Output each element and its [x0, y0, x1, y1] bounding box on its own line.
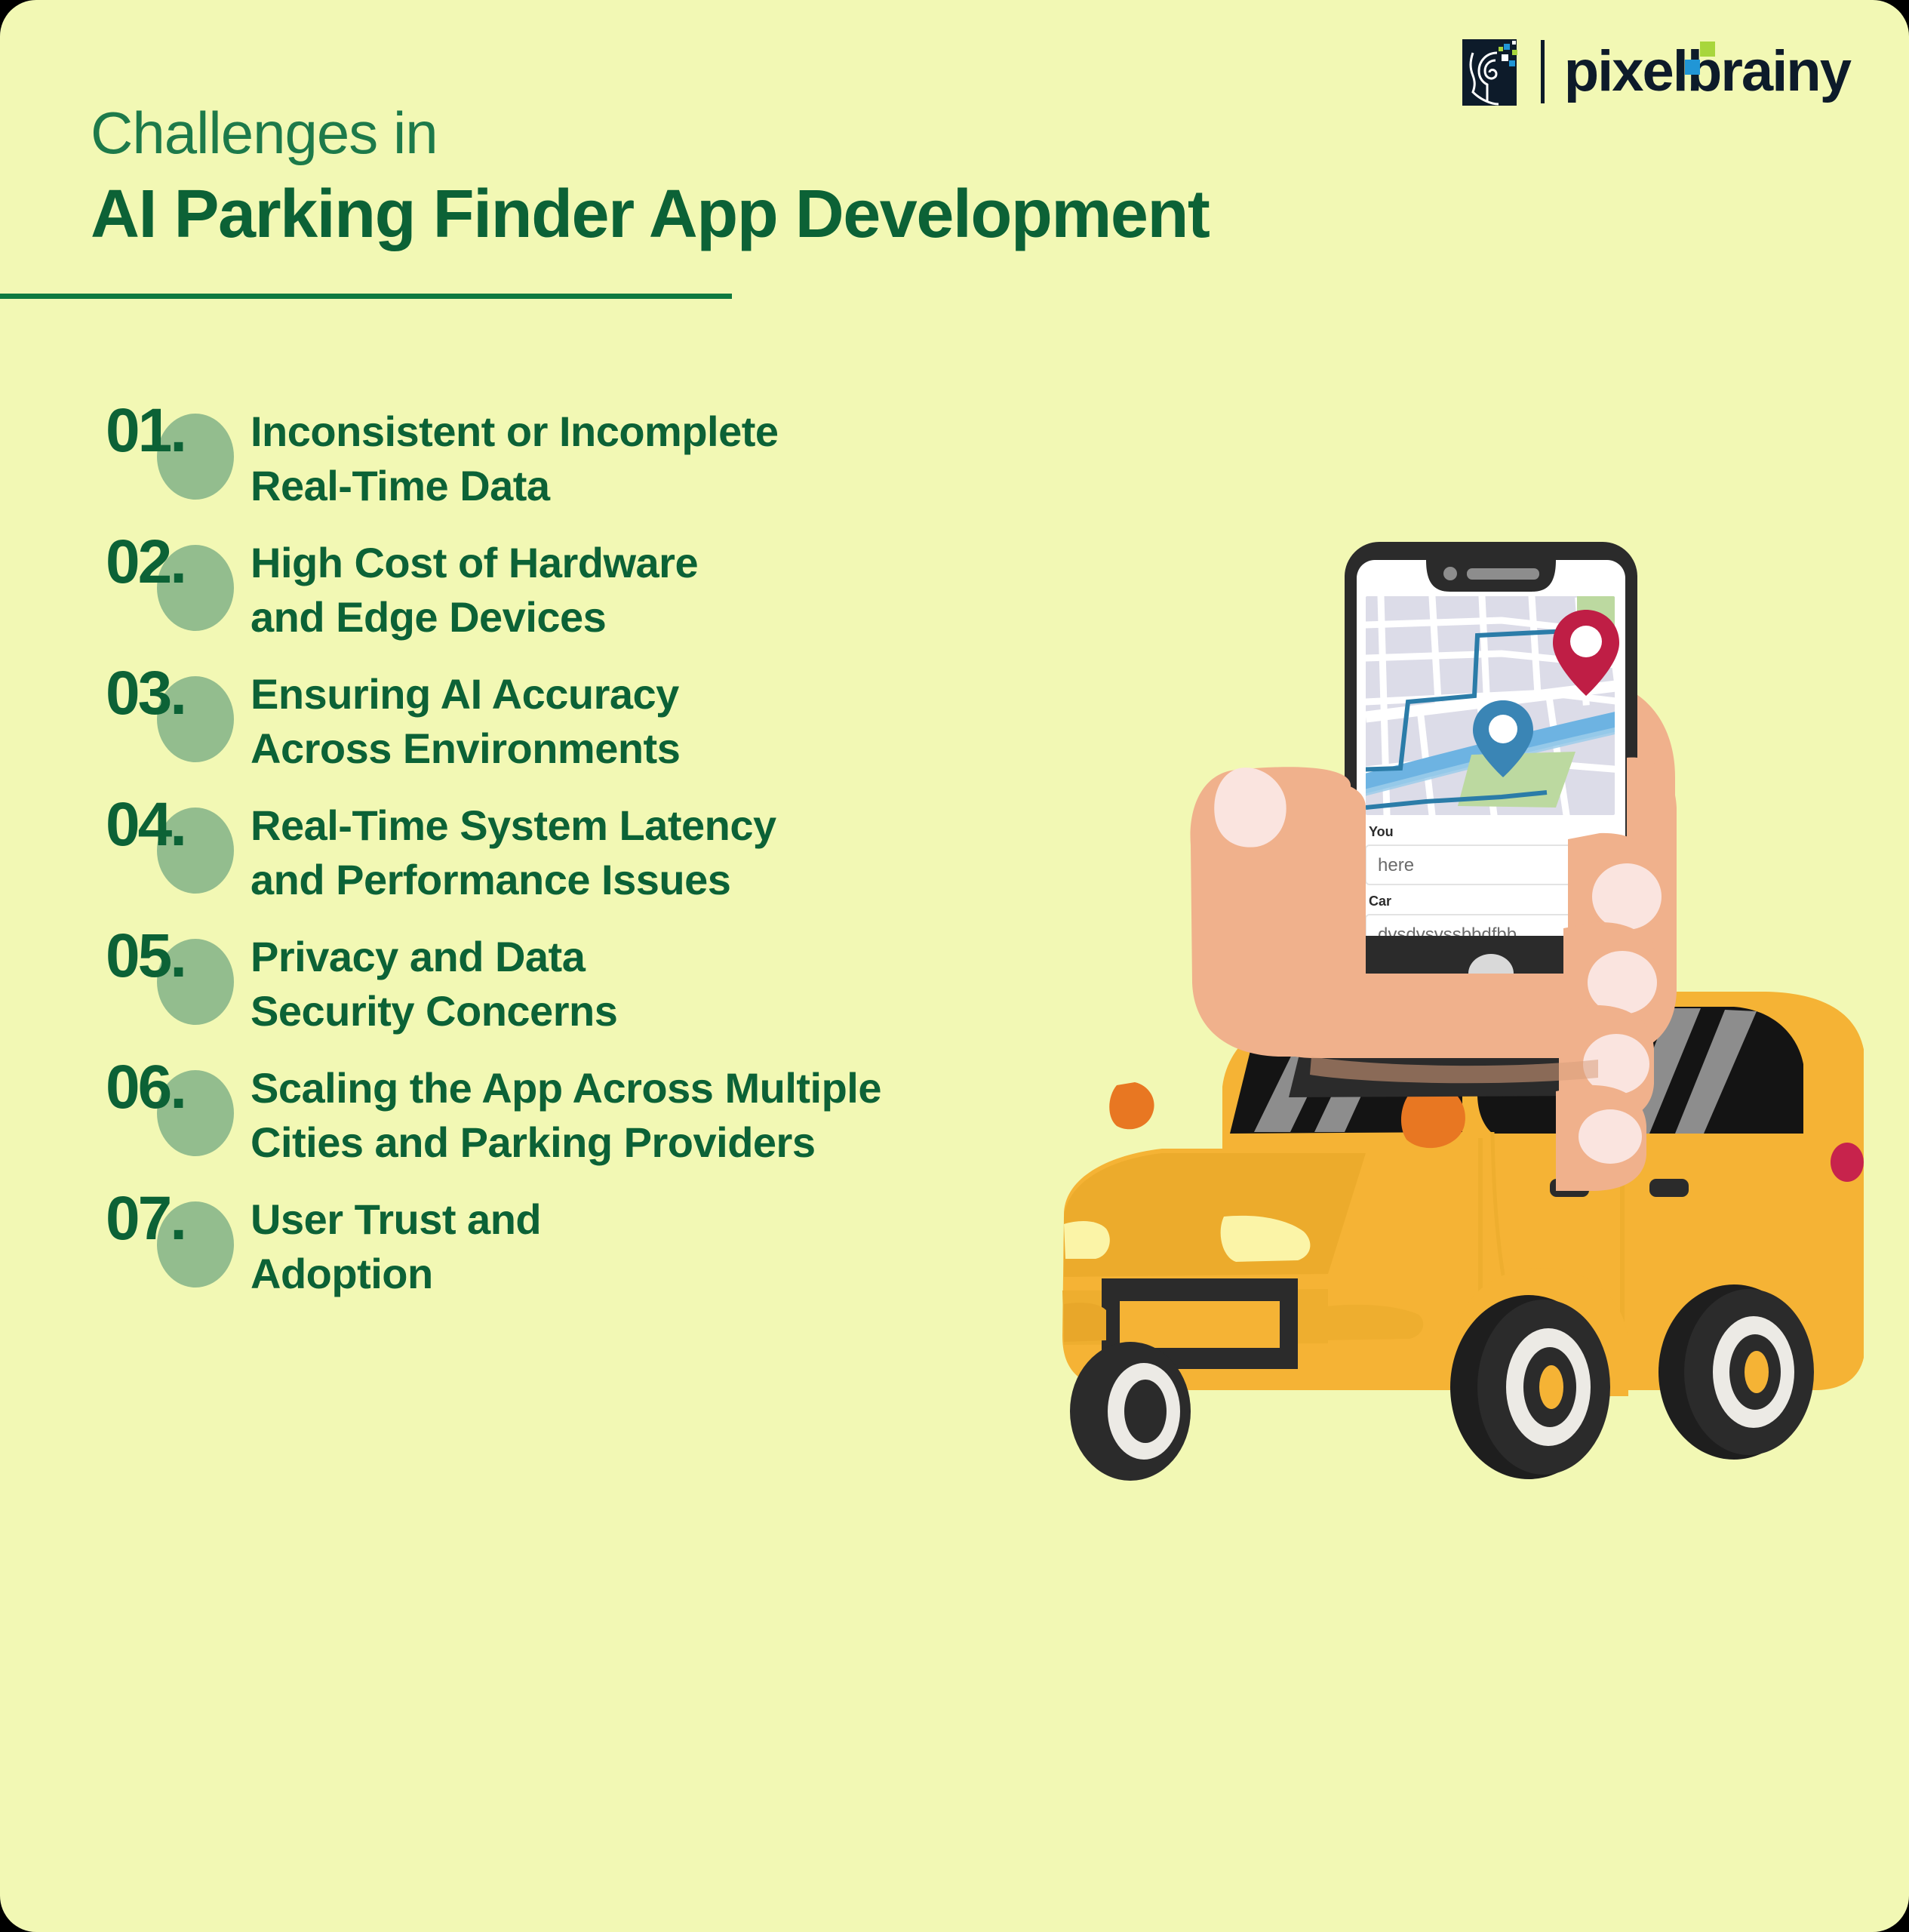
title-divider-rule: [0, 294, 732, 299]
item-number-badge: 06.: [106, 1052, 251, 1152]
item-label: Scaling the App Across Multiple Cities a…: [251, 1052, 881, 1169]
challenges-list: 01. Inconsistent or Incomplete Real-Time…: [106, 395, 1011, 1315]
title-line-2: AI Parking Finder App Development: [91, 174, 1209, 255]
item-label: High Cost of Hardware and Edge Devices: [251, 527, 698, 644]
brand-logo[interactable]: pixelbrainy: [1462, 36, 1850, 107]
item-label: User Trust and Adoption: [251, 1183, 541, 1300]
list-item: 03. Ensuring AI Accuracy Across Environm…: [106, 658, 1011, 789]
item-number-badge: 02.: [106, 527, 251, 626]
logo-divider: [1541, 40, 1545, 103]
page-title: Challenges in AI Parking Finder App Deve…: [91, 100, 1209, 255]
logo-pixel-blue: [1685, 60, 1700, 75]
list-item: 02. High Cost of Hardware and Edge Devic…: [106, 527, 1011, 658]
item-number: 02.: [106, 531, 185, 593]
item-number-badge: 05.: [106, 921, 251, 1020]
item-number: 07.: [106, 1188, 185, 1250]
hand-holding-phone-over-yellow-car-illustration: You here Car dvsdvsvssbbdfbb Find: [973, 453, 1864, 1630]
item-number: 05.: [106, 925, 185, 987]
front-wheel-icon: [1450, 1295, 1610, 1479]
brand-name: pixelbrainy: [1564, 43, 1850, 100]
rear-wheel-icon: [1658, 1284, 1814, 1460]
you-value: here: [1378, 855, 1414, 875]
item-number-badge: 01.: [106, 395, 251, 495]
infographic-poster: pixelbrainy Challenges in AI Parking Fin…: [0, 0, 1909, 1932]
list-item: 05. Privacy and Data Security Concerns: [106, 921, 1011, 1052]
item-label: Privacy and Data Security Concerns: [251, 921, 617, 1038]
item-label: Ensuring AI Accuracy Across Environments: [251, 658, 680, 775]
item-number: 03.: [106, 663, 185, 724]
you-label: You: [1369, 824, 1394, 839]
item-number-badge: 03.: [106, 658, 251, 758]
item-label: Real-Time System Latency and Performance…: [251, 789, 776, 906]
list-item: 04. Real-Time System Latency and Perform…: [106, 789, 1011, 921]
list-item: 07. User Trust and Adoption: [106, 1183, 1011, 1315]
item-number-badge: 04.: [106, 789, 251, 889]
list-item: 06. Scaling the App Across Multiple Citi…: [106, 1052, 1011, 1183]
item-number: 06.: [106, 1057, 185, 1118]
logo-pixel-green: [1700, 42, 1715, 57]
title-line-1: Challenges in: [91, 100, 1209, 168]
item-label: Inconsistent or Incomplete Real-Time Dat…: [251, 395, 779, 512]
far-wheel-icon: [1070, 1342, 1191, 1481]
car-label: Car: [1369, 894, 1391, 909]
brain-head-icon: [1462, 36, 1521, 107]
item-number-badge: 07.: [106, 1183, 251, 1283]
item-number: 01.: [106, 400, 185, 462]
list-item: 01. Inconsistent or Incomplete Real-Time…: [106, 395, 1011, 527]
item-number: 04.: [106, 794, 185, 856]
